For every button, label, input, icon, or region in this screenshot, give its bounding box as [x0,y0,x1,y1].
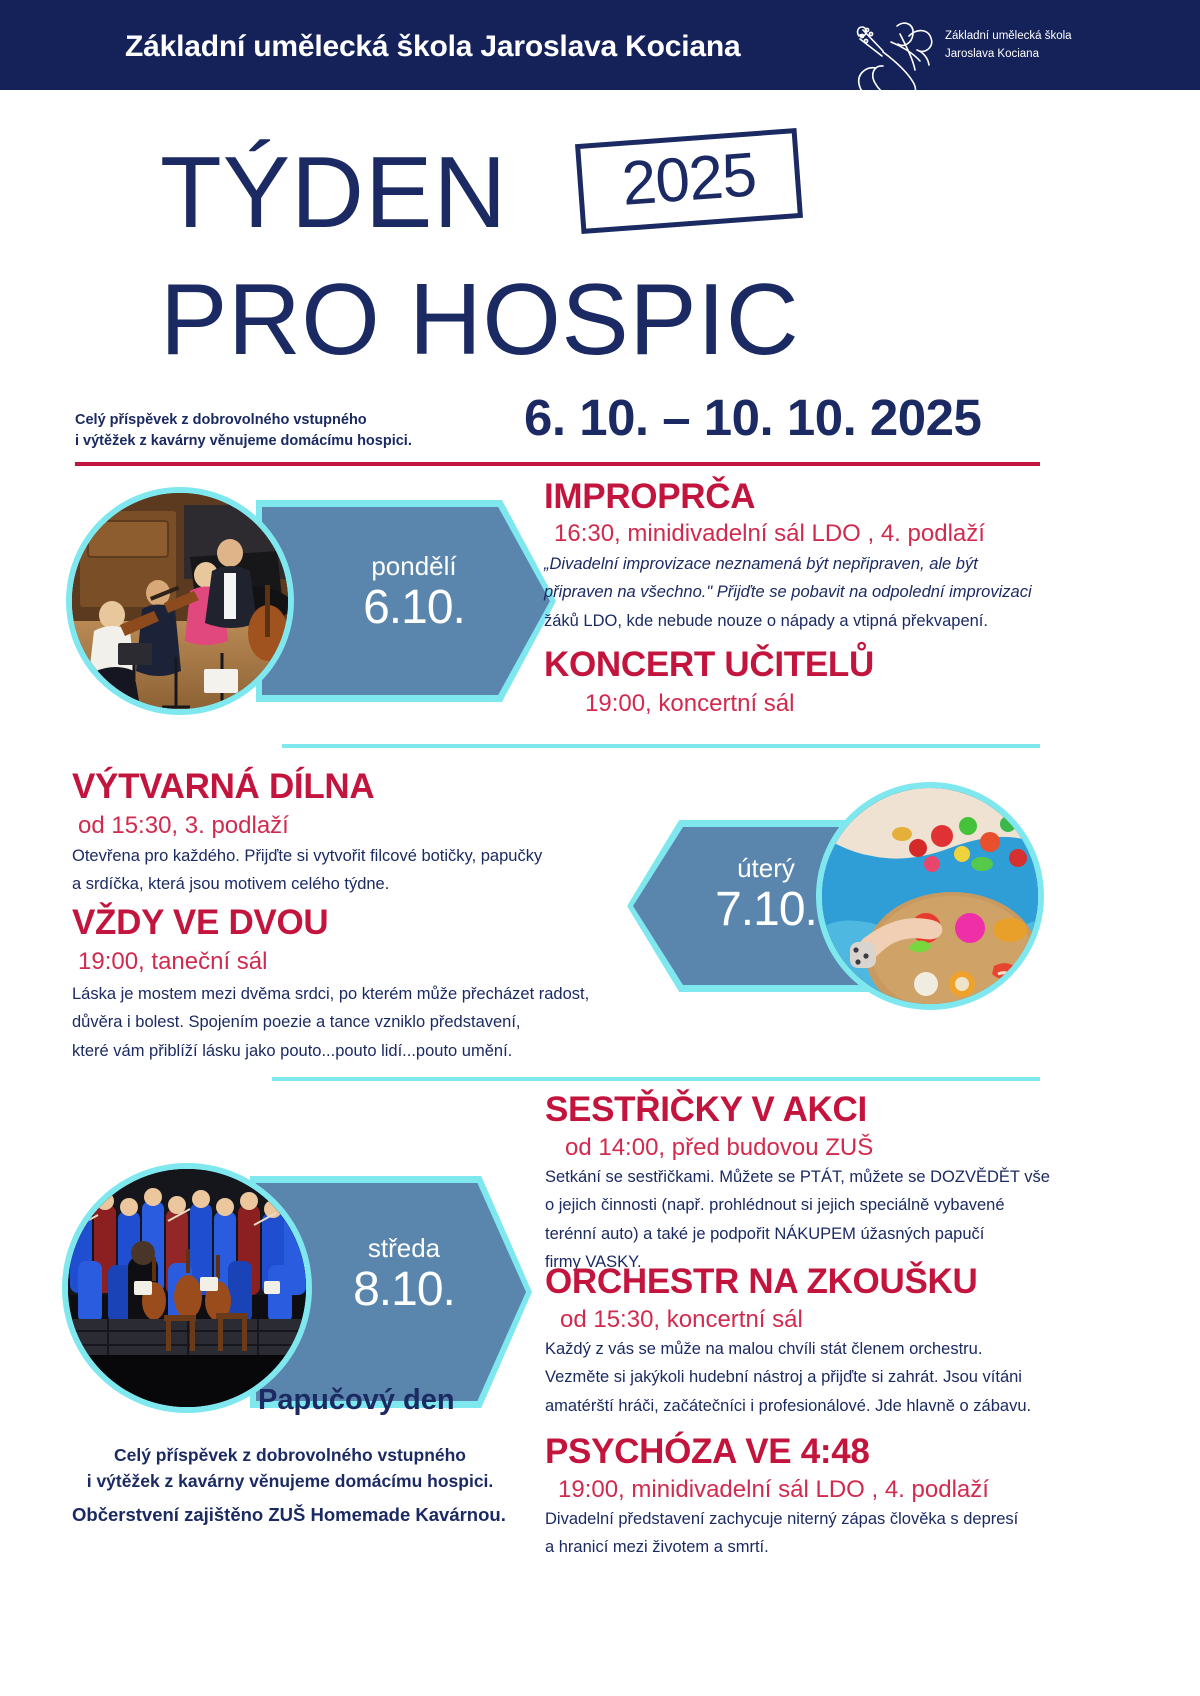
divider-cyan-1 [282,744,1040,748]
event-body-line: Každý z vás se může na malou chvíli stát… [545,1335,1085,1363]
event-title-sestricky-v-akci: SESTŘIČKY V AKCI [545,1090,867,1130]
divider-cyan-2 [272,1077,1040,1081]
divider-red-top [75,462,1040,466]
year-badge: 2025 [575,128,803,234]
day-name-monday: pondělí [302,552,526,581]
event-body-vzdy-ve-dvou: Láska je mostem mezi dvěma srdci, po kte… [72,980,672,1065]
school-name: Základní umělecká škola Jaroslava Kocian… [125,30,740,64]
photo-monday-image [72,493,288,709]
event-body-line: Vezměte si jakýkoli hudební nástroj a př… [545,1363,1085,1391]
event-body-line: Láska je mostem mezi dvěma srdci, po kte… [72,980,672,1008]
title-line-2: PRO HOSPIC [160,257,799,384]
logo-wordmark: Základní umělecká škola Jaroslava Kocian… [945,28,1072,64]
event-body-line: důvěra i bolest. Spojením poezie a tance… [72,1008,672,1036]
event-title-koncert-uciteluu: KONCERT UČITELŮ [544,645,874,685]
day-badge-monday-labels: pondělí 6.10. [302,552,526,634]
footer-note-line-1: Celý příspěvek z dobrovolného vstupného [60,1442,520,1468]
intro-note: Celý příspěvek z dobrovolného vstupného … [75,410,412,451]
event-time-vzdy-ve-dvou: 19:00, taneční sál [78,948,267,976]
logo-line-1: Základní umělecká škola [945,28,1072,46]
footer-refreshments: Občerstvení zajištěno ZUŠ Homemade Kavár… [72,1504,506,1526]
event-body-psychoza-ve-448: Divadelní představení zachycuje niterný … [545,1505,1085,1562]
event-time-sestricky-v-akci: od 14:00, před budovou ZUŠ [565,1134,873,1162]
event-title-psychoza-ve-448: PSYCHÓZA VE 4:48 [545,1432,870,1472]
event-time-improprca: 16:30, minidivadelní sál LDO , 4. podlaž… [554,520,985,548]
footer-note: Celý příspěvek z dobrovolného vstupného … [60,1442,520,1495]
photo-tuesday [816,782,1044,1010]
event-time-koncert-uciteluu: 19:00, koncertní sál [585,690,794,718]
photo-wednesday [62,1163,312,1413]
day-name-wednesday: středa [302,1234,506,1263]
intro-line-2: i výtěžek z kavárny věnujeme domácímu ho… [75,431,412,452]
event-body-orchestr-na-zkousku: Každý z vás se může na malou chvíli stát… [545,1335,1085,1420]
event-body-improprca: „Divadelní improvizace neznamená být nep… [544,550,1064,635]
event-body-line: připraven na všechno." Přijďte se pobavi… [544,578,1064,606]
event-body-sestricky-v-akci: Setkání se sestřičkami. Můžete se PTÁT, … [545,1163,1075,1277]
event-body-vytvarna-dilna: Otevřena pro každého. Přijďte si vytvoři… [72,842,612,899]
event-time-psychoza-ve-448: 19:00, minidivadelní sál LDO , 4. podlaž… [558,1476,989,1504]
logo-line-2: Jaroslava Kociana [945,46,1072,64]
event-time-orchestr-na-zkousku: od 15:30, koncertní sál [560,1306,803,1334]
violin-palette-logo-icon [845,6,955,146]
day-badge-wednesday-labels: středa 8.10. [302,1234,506,1316]
photo-tuesday-image [822,788,1038,1004]
day-date-monday: 6.10. [302,581,526,635]
event-body-line: a srdíčka, která jsou motivem celého týd… [72,870,612,898]
day-date-wednesday: 8.10. [302,1263,506,1317]
date-range: 6. 10. – 10. 10. 2025 [524,388,981,447]
event-body-line: Otevřena pro každého. Přijďte si vytvoři… [72,842,612,870]
event-body-line: Divadelní představení zachycuje niterný … [545,1505,1085,1533]
event-body-line: žáků LDO, kde nebude nouze o nápady a vt… [544,607,1064,635]
day-badge-monday: pondělí 6.10. [256,500,556,702]
event-title-improprca: IMPROPRČA [544,477,755,517]
event-title-vzdy-ve-dvou: VŽDY VE DVOU [72,903,328,943]
photo-wednesday-image [68,1169,306,1407]
intro-line-1: Celý příspěvek z dobrovolného vstupného [75,410,412,431]
event-body-line: „Divadelní improvizace neznamená být nep… [544,550,1064,578]
photo-monday [66,487,294,715]
event-title-vytvarna-dilna: VÝTVARNÁ DÍLNA [72,767,374,807]
event-body-line: amatérští hráči, začátečníci i profesion… [545,1392,1085,1420]
event-title-orchestr-na-zkousku: ORCHESTR NA ZKOUŠKU [545,1262,977,1302]
event-body-line: a hranicí mezi životem a smrtí. [545,1533,1085,1561]
event-body-line: terénní auto) a také je podpořit NÁKUPEM… [545,1220,1075,1248]
poster-root: Základní umělecká škola Jaroslava Kocian… [0,0,1200,1696]
footer-note-line-2: i výtěžek z kavárny věnujeme domácímu ho… [60,1468,520,1494]
event-body-line: Setkání se sestřičkami. Můžete se PTÁT, … [545,1163,1075,1191]
event-time-vytvarna-dilna: od 15:30, 3. podlaží [78,812,289,840]
event-body-line: které vám přiblíží lásku jako pouto...po… [72,1037,672,1065]
event-body-line: o jejich činnosti (např. prohlédnout si … [545,1191,1075,1219]
